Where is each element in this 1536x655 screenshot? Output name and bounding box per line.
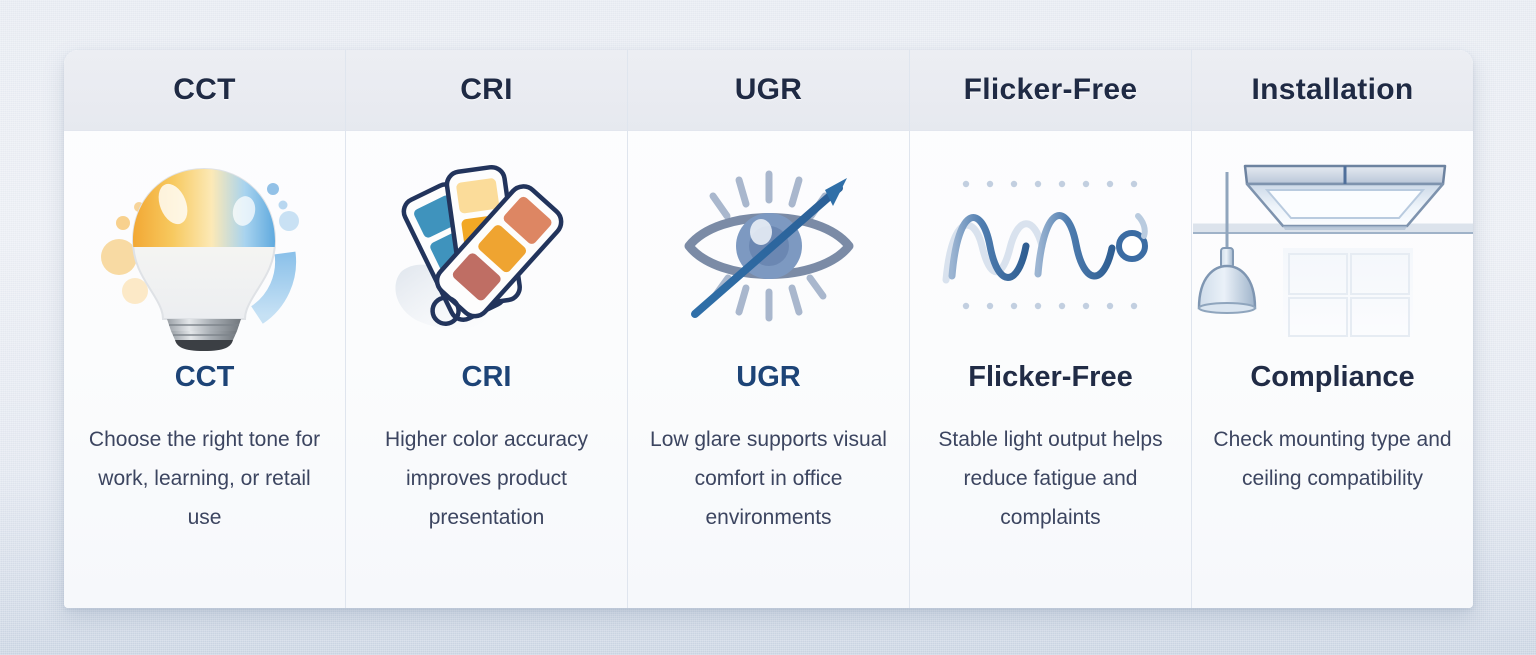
card-title: UGR (736, 361, 800, 394)
card-description: Low glare supports visual comfort in off… (644, 420, 893, 537)
icon-area-cct (64, 131, 345, 361)
body-area-installation: Compliance Check mounting type and ceili… (1192, 361, 1473, 608)
card-header-cri: CRI (346, 50, 627, 131)
body-area-cri: CRI Higher color accuracy improves produ… (346, 361, 627, 608)
card-header-title: CCT (173, 73, 236, 107)
card-title: Compliance (1250, 361, 1414, 394)
card-header-title: CRI (460, 73, 513, 107)
card-header-installation: Installation (1192, 50, 1473, 131)
feature-card-cct[interactable]: CCT (64, 50, 346, 608)
feature-cards-panel: CCT (64, 50, 1473, 608)
eye-glare-slash-icon (669, 156, 869, 336)
icon-area-ugr (628, 131, 909, 361)
card-title: CRI (462, 361, 512, 394)
card-header-title: Installation (1252, 73, 1414, 107)
card-description: Stable light output helps reduce fatigue… (926, 420, 1175, 537)
ceiling-panel-pendant-icon (1193, 156, 1473, 336)
feature-card-ugr[interactable]: UGR (628, 50, 910, 608)
card-header-cct: CCT (64, 50, 345, 131)
icon-area-cri (346, 131, 627, 361)
card-header-flicker-free: Flicker-Free (910, 50, 1191, 131)
card-description: Higher color accuracy improves product p… (362, 420, 611, 537)
feature-card-flicker-free[interactable]: Flicker-Free (910, 50, 1192, 608)
card-header-title: Flicker-Free (964, 73, 1138, 107)
card-description: Choose the right tone for work, learning… (80, 420, 329, 537)
card-header-ugr: UGR (628, 50, 909, 131)
lightbulb-warm-cool-icon (97, 149, 312, 344)
card-description: Check mounting type and ceiling compatib… (1208, 420, 1457, 498)
feature-card-cri[interactable]: CRI (346, 50, 628, 608)
card-header-title: UGR (735, 73, 803, 107)
body-area-ugr: UGR Low glare supports visual comfort in… (628, 361, 909, 608)
card-title: CCT (175, 361, 235, 394)
body-area-cct: CCT Choose the right tone for work, lear… (64, 361, 345, 608)
card-title: Flicker-Free (968, 361, 1132, 394)
icon-area-installation (1192, 131, 1473, 361)
waveform-stabilizing-icon (938, 176, 1163, 316)
body-area-flicker-free: Flicker-Free Stable light output helps r… (910, 361, 1191, 608)
color-swatch-fan-icon (384, 151, 589, 341)
feature-card-installation[interactable]: Installation (1192, 50, 1473, 608)
icon-area-flicker-free (910, 131, 1191, 361)
